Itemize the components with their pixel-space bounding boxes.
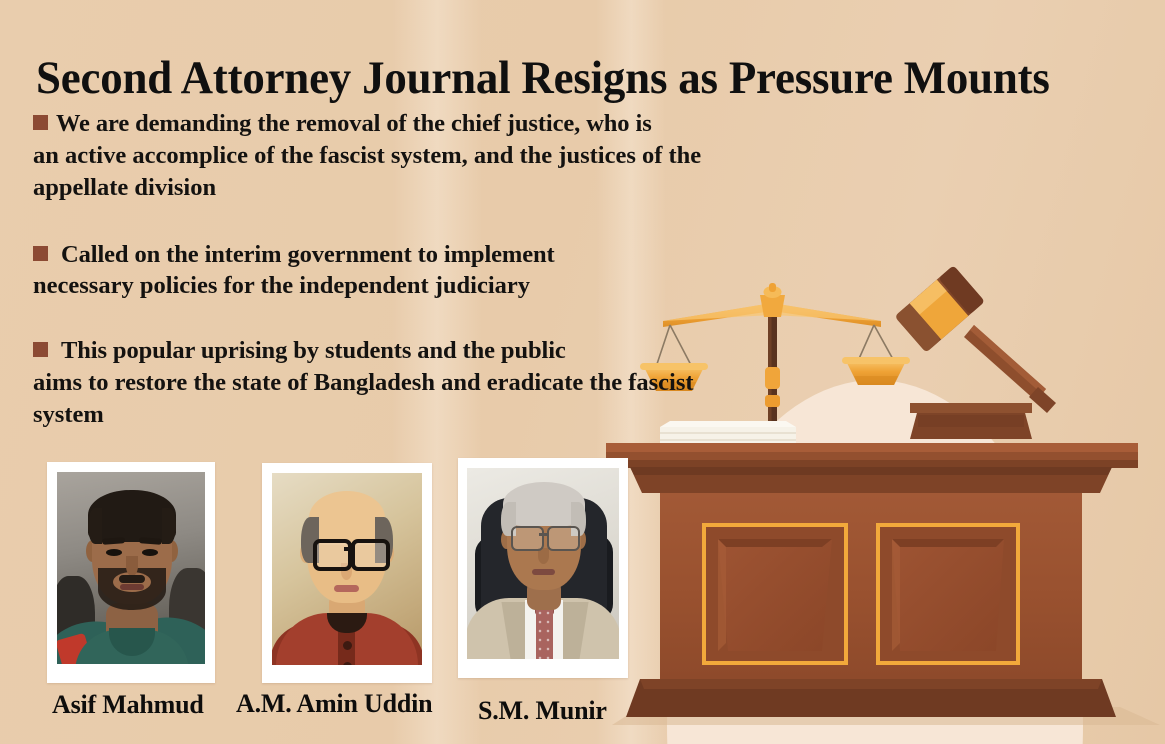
list-item: Called on the interim government to impl…: [33, 239, 763, 303]
bullet-body-text: an active accomplice of the fascist syst…: [33, 140, 763, 204]
portrait-frame-sm-munir: [458, 458, 628, 678]
portrait-frame-am-amin-uddin: [262, 463, 432, 683]
list-item: We are demanding the removal of the chie…: [33, 108, 763, 204]
portrait-caption-sm-munir: S.M. Munir: [478, 696, 607, 726]
portrait-frame-asif-mahmud: [47, 462, 215, 683]
bullet-square-icon: [33, 115, 48, 130]
bullet-square-icon: [33, 342, 48, 357]
bullet-body-text: necessary policies for the independent j…: [33, 270, 763, 302]
judge-bench: [606, 443, 1138, 717]
portrait-caption-am-amin-uddin: A.M. Amin Uddin: [236, 689, 432, 719]
news-infographic-poster: Second Attorney Journal Resigns as Press…: [0, 0, 1165, 744]
bullet-body-text: aims to restore the state of Bangladesh …: [33, 367, 763, 431]
bullet-square-icon: [33, 246, 48, 261]
bullet-list: We are demanding the removal of the chie…: [33, 108, 763, 431]
bullet-lead-text: We are demanding the removal of the chie…: [56, 110, 652, 137]
bullet-lead-text: This popular uprising by students and th…: [61, 337, 566, 364]
portrait-caption-asif-mahmud: Asif Mahmud: [52, 690, 204, 720]
portrait-photo-asif-mahmud: [57, 472, 205, 664]
portrait-photo-sm-munir: [467, 468, 619, 659]
gavel: [895, 265, 1056, 439]
page-title: Second Attorney Journal Resigns as Press…: [36, 54, 1101, 104]
list-item: This popular uprising by students and th…: [33, 335, 763, 431]
bullet-lead-text: Called on the interim government to impl…: [61, 241, 555, 268]
portrait-photo-am-amin-uddin: [272, 473, 422, 665]
